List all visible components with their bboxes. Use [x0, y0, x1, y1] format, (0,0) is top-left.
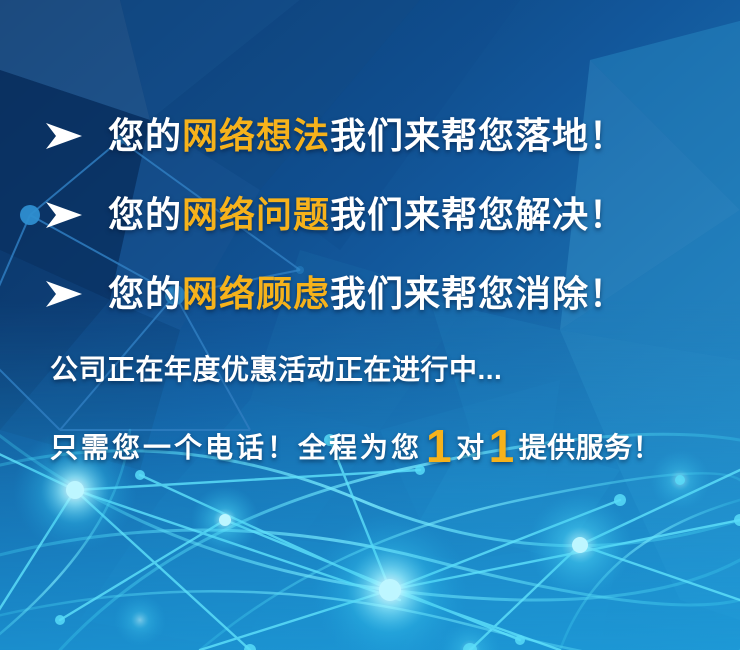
bullet-1-highlight: 网络想法 — [182, 115, 330, 156]
subline-block: 公司正在年度优惠活动正在进行中... 只需您一个电话！全程为您1对1提供服务！ — [50, 356, 740, 469]
bullet-row-1: 您的网络想法我们来帮您落地！ — [44, 96, 724, 175]
bullet-3-suffix: 我们来帮您消除！ — [330, 273, 626, 314]
bullet-2-highlight: 网络问题 — [182, 194, 330, 235]
cta-number-2: 1 — [485, 420, 519, 472]
bullet-1-suffix: 我们来帮您落地！ — [330, 115, 626, 156]
cta-part2: 提供服务！ — [519, 432, 662, 463]
bullet-3-highlight: 网络顾虑 — [182, 273, 330, 314]
bullet-text-2: 您的网络问题我们来帮您解决！ — [108, 197, 626, 233]
promo-text: 公司正在年度优惠活动正在进行中... — [50, 356, 740, 384]
bullet-2-prefix: 您的 — [108, 194, 182, 235]
bullet-row-3: 您的网络顾虑我们来帮您消除！ — [44, 254, 724, 333]
promo-banner: 您的网络想法我们来帮您落地！ 您的网络问题我们来帮您解决！ 您的网络顾虑我们来帮… — [0, 0, 740, 650]
bullet-text-3: 您的网络顾虑我们来帮您消除！ — [108, 276, 626, 312]
bullet-3-prefix: 您的 — [108, 273, 182, 314]
cta-text: 只需您一个电话！全程为您1对1提供服务！ — [50, 423, 740, 469]
cta-number-1: 1 — [422, 420, 456, 472]
bullet-2-suffix: 我们来帮您解决！ — [330, 194, 626, 235]
bullet-1-prefix: 您的 — [108, 115, 182, 156]
arrow-right-icon — [44, 277, 84, 311]
arrow-right-icon — [44, 198, 84, 232]
cta-mid: 对 — [456, 432, 485, 463]
arrow-right-icon — [44, 119, 84, 153]
content-layer: 您的网络想法我们来帮您落地！ 您的网络问题我们来帮您解决！ 您的网络顾虑我们来帮… — [0, 0, 740, 650]
bullet-row-2: 您的网络问题我们来帮您解决！ — [44, 175, 724, 254]
bullet-text-1: 您的网络想法我们来帮您落地！ — [108, 118, 626, 154]
bullet-list: 您的网络想法我们来帮您落地！ 您的网络问题我们来帮您解决！ 您的网络顾虑我们来帮… — [44, 96, 724, 333]
cta-part1: 只需您一个电话！全程为您 — [50, 432, 422, 463]
